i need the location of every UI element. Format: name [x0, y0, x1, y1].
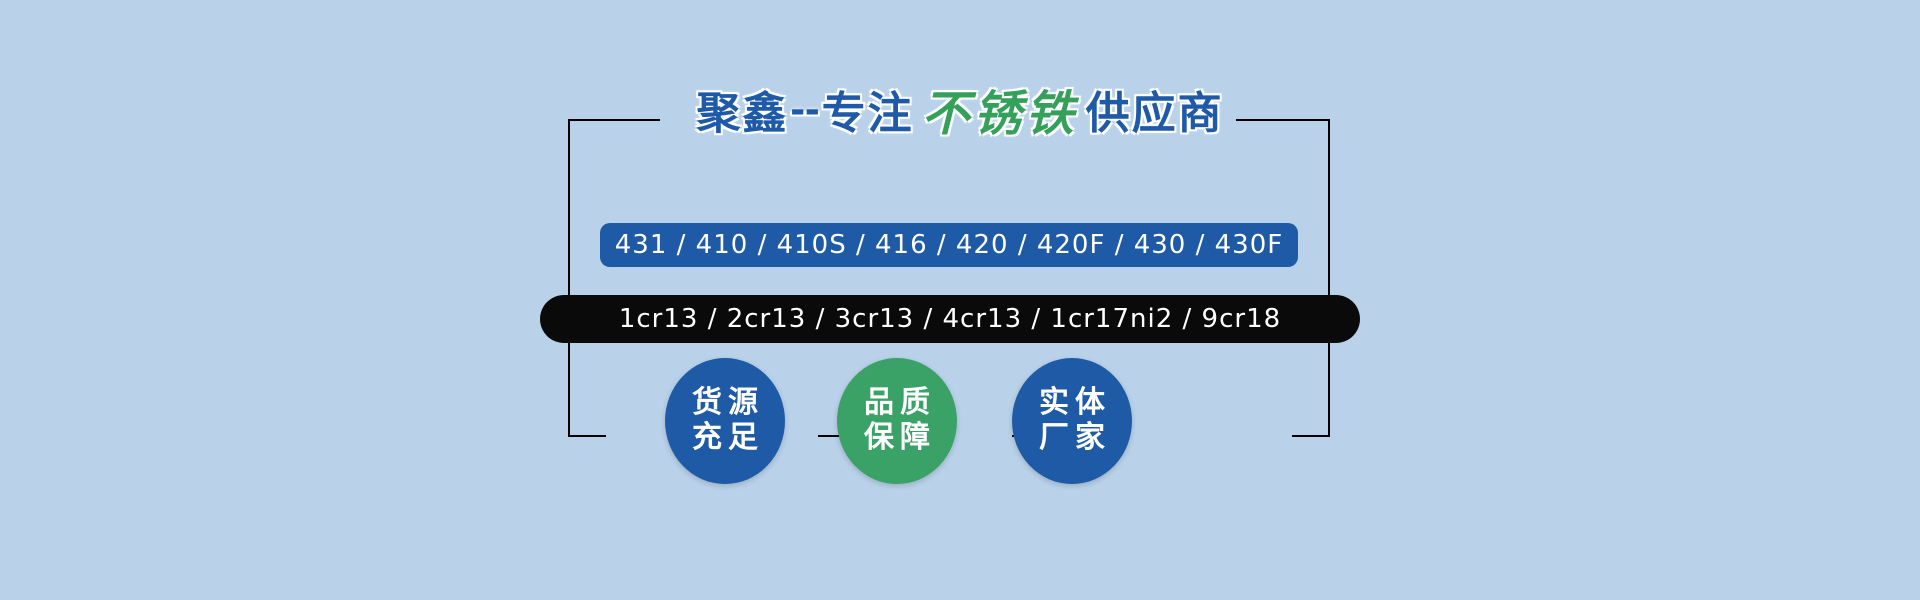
- badge-supply: 货源 充足: [665, 358, 785, 484]
- feature-badges: 货源 充足 品质 保障 实体 厂家: [0, 358, 1920, 484]
- badge-line-2: 充足: [686, 421, 764, 456]
- plinth-blue-panel: [1814, 498, 1910, 600]
- headline-supplier: 供应商: [1086, 77, 1224, 141]
- facade-char: 鑫: [153, 256, 190, 304]
- plinth-blue-panel: [10, 498, 106, 600]
- small-window: [140, 512, 266, 588]
- badge-line-1: 品质: [858, 386, 936, 421]
- badge-line-1: 实体: [1033, 386, 1111, 421]
- headline-highlight: 不锈铁: [914, 74, 1086, 144]
- facade-char: 不: [1652, 216, 1689, 264]
- grade-bar-secondary: 1cr13 / 2cr13 / 3cr13 / 4cr13 / 1cr17ni2…: [540, 295, 1360, 343]
- badge-quality: 品质 保障: [837, 358, 957, 484]
- small-window: [1654, 512, 1780, 588]
- headline-focus: 专注: [822, 77, 914, 141]
- headline: 聚鑫--专注不锈铁供应商: [0, 74, 1920, 144]
- badge-line-1: 货源: [686, 386, 764, 421]
- headline-dash: --: [788, 84, 821, 134]
- facade-char: 聚: [76, 297, 113, 345]
- grade-bar-primary: 431 / 410 / 410S / 416 / 420 / 420F / 43…: [600, 223, 1298, 267]
- badge-factory: 实体 厂家: [1012, 358, 1132, 484]
- badge-line-2: 厂家: [1033, 421, 1111, 456]
- facade-char: 锈: [1573, 169, 1610, 217]
- promo-banner: 聚 鑫 不 锈 聚 鑫 不 锈: [0, 0, 1920, 600]
- headline-brand: 聚鑫: [696, 77, 788, 141]
- facade-char: 鑫: [1731, 256, 1768, 304]
- badge-line-2: 保障: [858, 421, 936, 456]
- facade-char: 不: [231, 216, 268, 264]
- facade-char: 锈: [310, 169, 347, 217]
